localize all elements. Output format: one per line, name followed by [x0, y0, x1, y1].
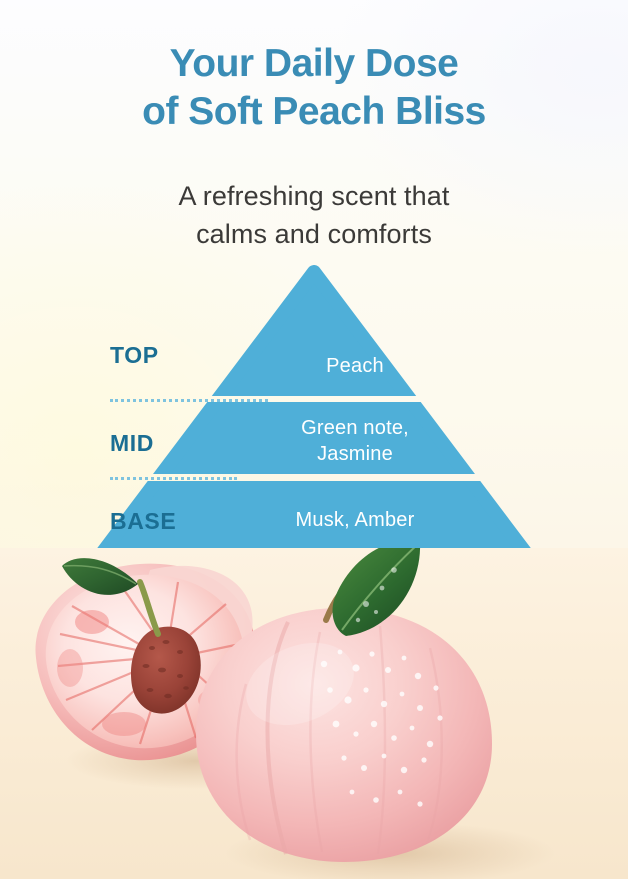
pyramid-divider-dotted-lower	[110, 477, 237, 480]
headline: Your Daily Dose of Soft Peach Bliss	[0, 40, 628, 136]
headline-line-2: of Soft Peach Bliss	[0, 88, 628, 136]
scent-pyramid: Peach Green note, Jasmine Musk, Amber TO…	[0, 265, 628, 565]
pyramid-label-base: BASE	[110, 508, 176, 534]
subheadline-line-2: calms and comforts	[0, 215, 628, 253]
pyramid-shape	[0, 265, 628, 565]
subheadline-line-1: A refreshing scent that	[0, 177, 628, 215]
halved-peach-blush-2	[57, 649, 83, 687]
halved-peach-blush-1	[75, 610, 109, 634]
pyramid-label-top: TOP	[110, 342, 159, 368]
whole-peach-body	[196, 608, 492, 862]
halved-peach-blush-3	[102, 712, 146, 736]
peach-photo-illustration	[0, 548, 628, 879]
subheadline: A refreshing scent that calms and comfor…	[0, 177, 628, 253]
headline-line-1: Your Daily Dose	[0, 40, 628, 88]
pyramid-divider-dotted-upper	[110, 399, 268, 402]
peach-photo	[0, 548, 628, 879]
pyramid-label-mid: MID	[110, 430, 154, 456]
peach-scent-poster: Your Daily Dose of Soft Peach Bliss A re…	[0, 0, 628, 879]
